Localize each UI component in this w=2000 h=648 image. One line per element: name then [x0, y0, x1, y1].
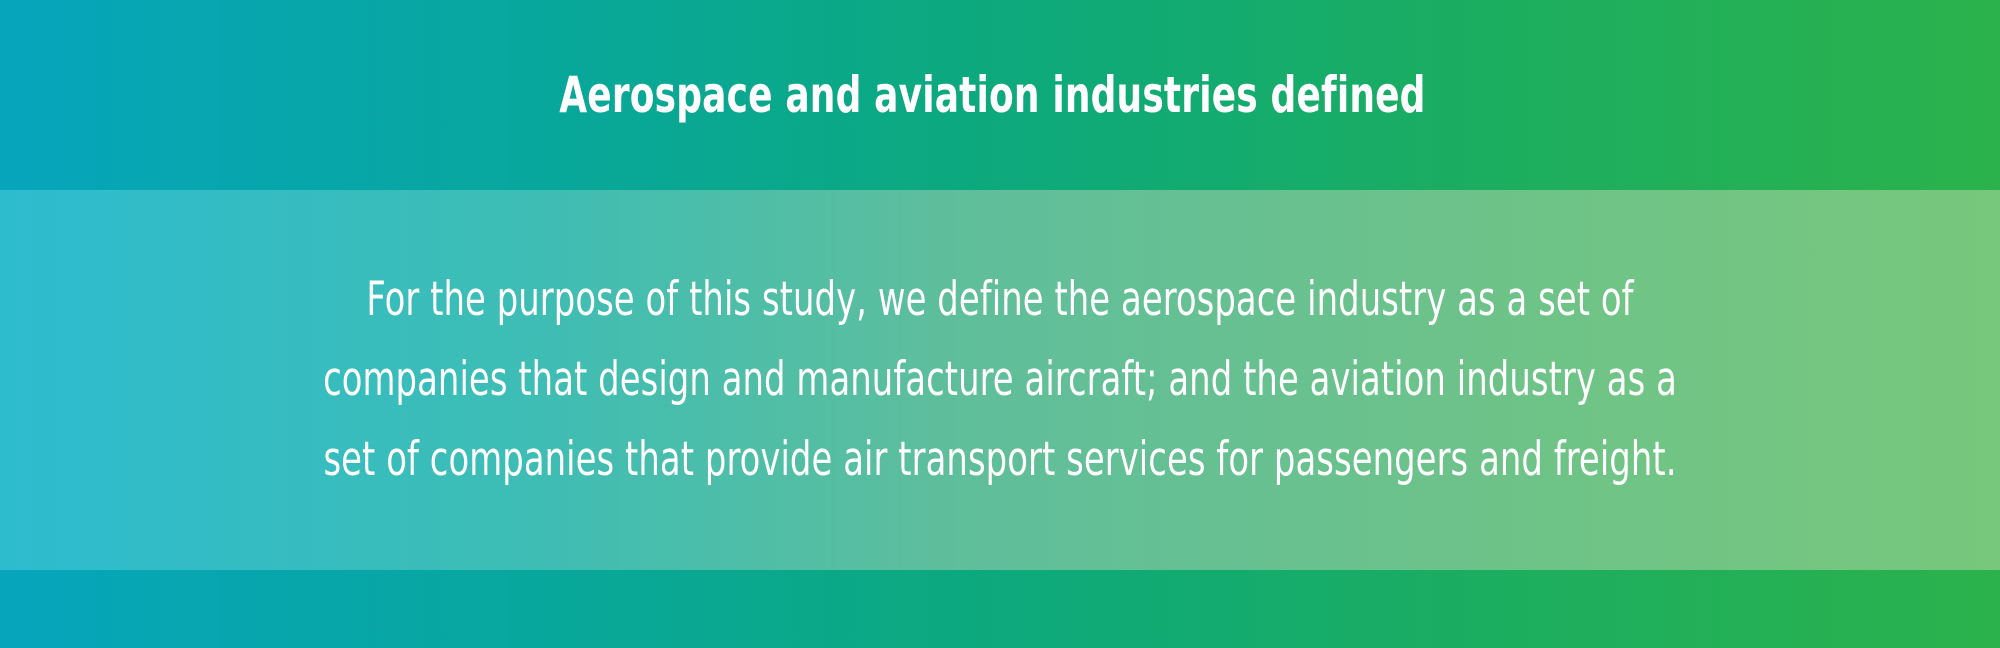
footer-band: [0, 570, 2000, 648]
title-area: Aerospace and aviation industries define…: [0, 0, 2000, 190]
body-line-1: For the purpose of this study, we define…: [200, 260, 1800, 340]
body-line-3: set of companies that provide air transp…: [200, 420, 1800, 500]
body-paragraph: For the purpose of this study, we define…: [0, 260, 2000, 500]
page-title: Aerospace and aviation industries define…: [559, 70, 1441, 120]
body-area: For the purpose of this study, we define…: [0, 190, 2000, 570]
slide-container: Aerospace and aviation industries define…: [0, 0, 2000, 648]
body-line-2: companies that design and manufacture ai…: [200, 340, 1800, 420]
